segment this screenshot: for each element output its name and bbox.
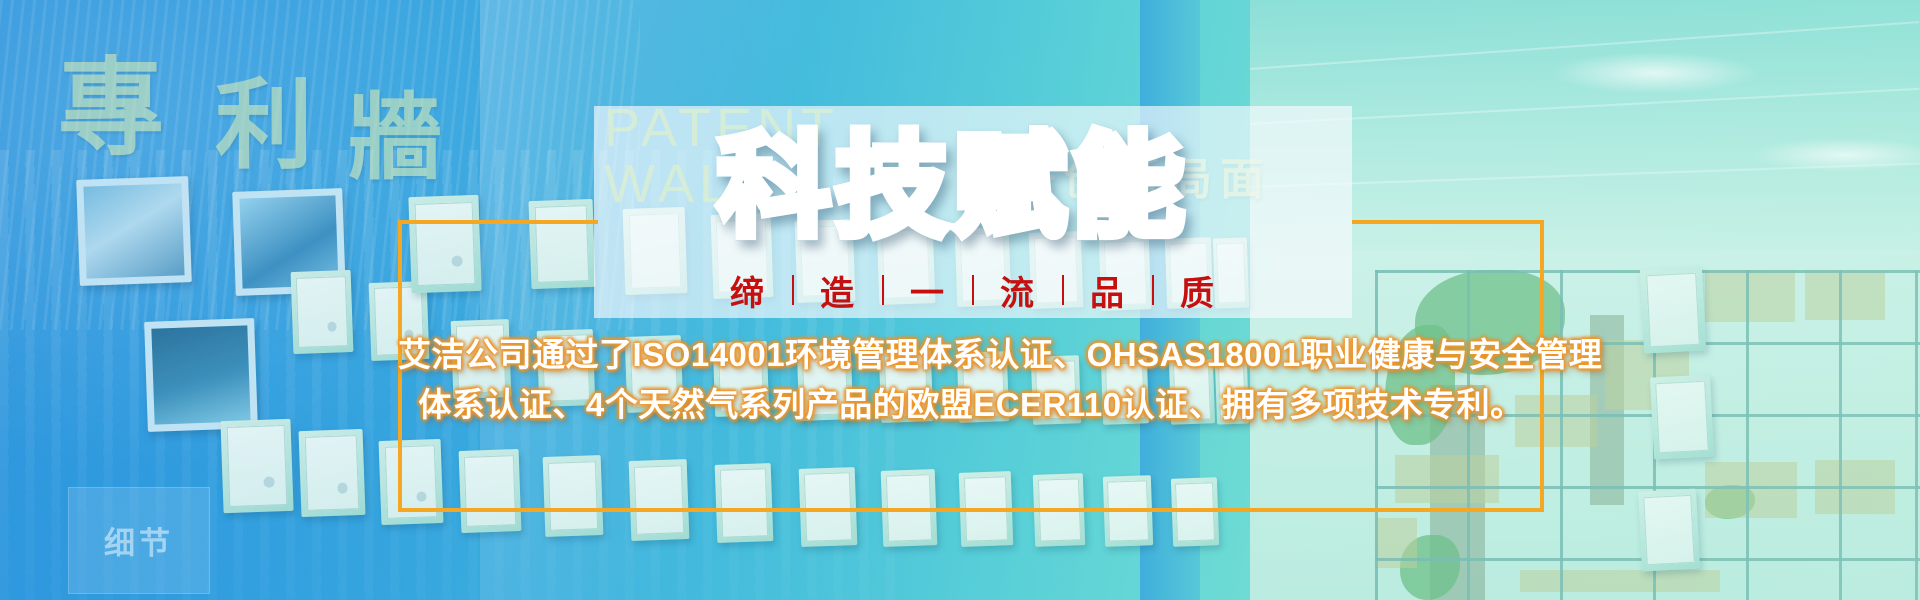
ceiling-lamp (1550, 52, 1760, 94)
certificate-seal (327, 321, 337, 331)
ceiling-line (1151, 21, 1919, 77)
frame-top-right-segment (1352, 220, 1544, 224)
certificate (1638, 489, 1700, 572)
wall-character-qiang: 牆 (348, 62, 442, 198)
body-copy: 艾洁公司通过了ISO14001环境管理体系认证、OHSAS18001职业健康与安… (398, 330, 1544, 430)
certificate (220, 419, 293, 513)
wall-photo-image (151, 325, 250, 424)
shelf-divider (1915, 270, 1918, 600)
body-copy-line2: 体系认证、4个天然气系列产品的欧盟ECER110认证、拥有多项技术专利。 (398, 380, 1544, 430)
shelf-box (1520, 570, 1720, 592)
certificate (291, 270, 354, 354)
shelf-divider (1560, 270, 1563, 600)
wall-photo-frame (76, 176, 192, 286)
certificate (299, 429, 366, 517)
wall-character-li: 利 (215, 46, 313, 188)
shelf-box (1705, 462, 1797, 518)
certificate (1640, 266, 1706, 353)
shelf-box (1805, 270, 1885, 320)
shelf-divider (1839, 270, 1842, 600)
patent-wall-banner: 專 利 牆 开创新局面 细节 PATENT WALL 科技赋能 缔 造 一 流 … (0, 0, 1920, 600)
certificate (1650, 374, 1714, 459)
shelf-box (1705, 270, 1795, 322)
frame-top-left-segment (398, 220, 598, 224)
frame-bottom-segment (398, 508, 1544, 512)
certificate-seal (337, 483, 348, 494)
wall-photo-frame (144, 318, 258, 432)
certificate-seal (263, 476, 275, 487)
wall-character-zhuan: 專 (58, 22, 164, 176)
body-copy-line1: 艾洁公司通过了ISO14001环境管理体系认证、OHSAS18001职业健康与安… (398, 330, 1544, 380)
wall-photo-image (83, 183, 184, 278)
shelf-divider (1746, 270, 1749, 600)
detail-label-frame: 细节 (68, 487, 210, 594)
detail-label: 细节 (104, 518, 174, 563)
